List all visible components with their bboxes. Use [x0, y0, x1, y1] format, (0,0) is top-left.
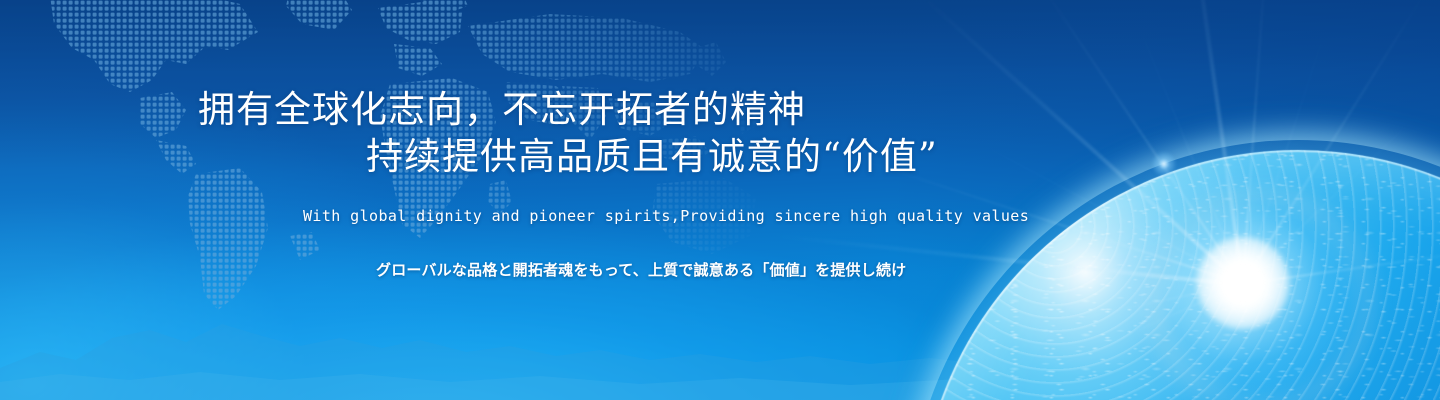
banner-subline-japanese: グローバルな品格と開拓者魂をもって、上質で誠意ある「価値」を提供し続け: [0, 258, 1100, 282]
headline-line-1: 拥有全球化志向，不忘开拓者的精神: [0, 86, 1100, 133]
lens-flare-dot-core-icon: [1159, 159, 1169, 169]
headline-line-2: 持续提供高品质且有诚意的“价值”: [0, 133, 1100, 180]
banner-text-block: 拥有全球化志向，不忘开拓者的精神 持续提供高品质且有诚意的“价值” With g…: [0, 0, 1100, 400]
banner-headline: 拥有全球化志向，不忘开拓者的精神 持续提供高品质且有诚意的“价值”: [0, 86, 1100, 180]
hero-banner: 拥有全球化志向，不忘开拓者的精神 持续提供高品质且有诚意的“价值” With g…: [0, 0, 1440, 400]
banner-subline-english: With global dignity and pioneer spirits,…: [0, 205, 1100, 227]
